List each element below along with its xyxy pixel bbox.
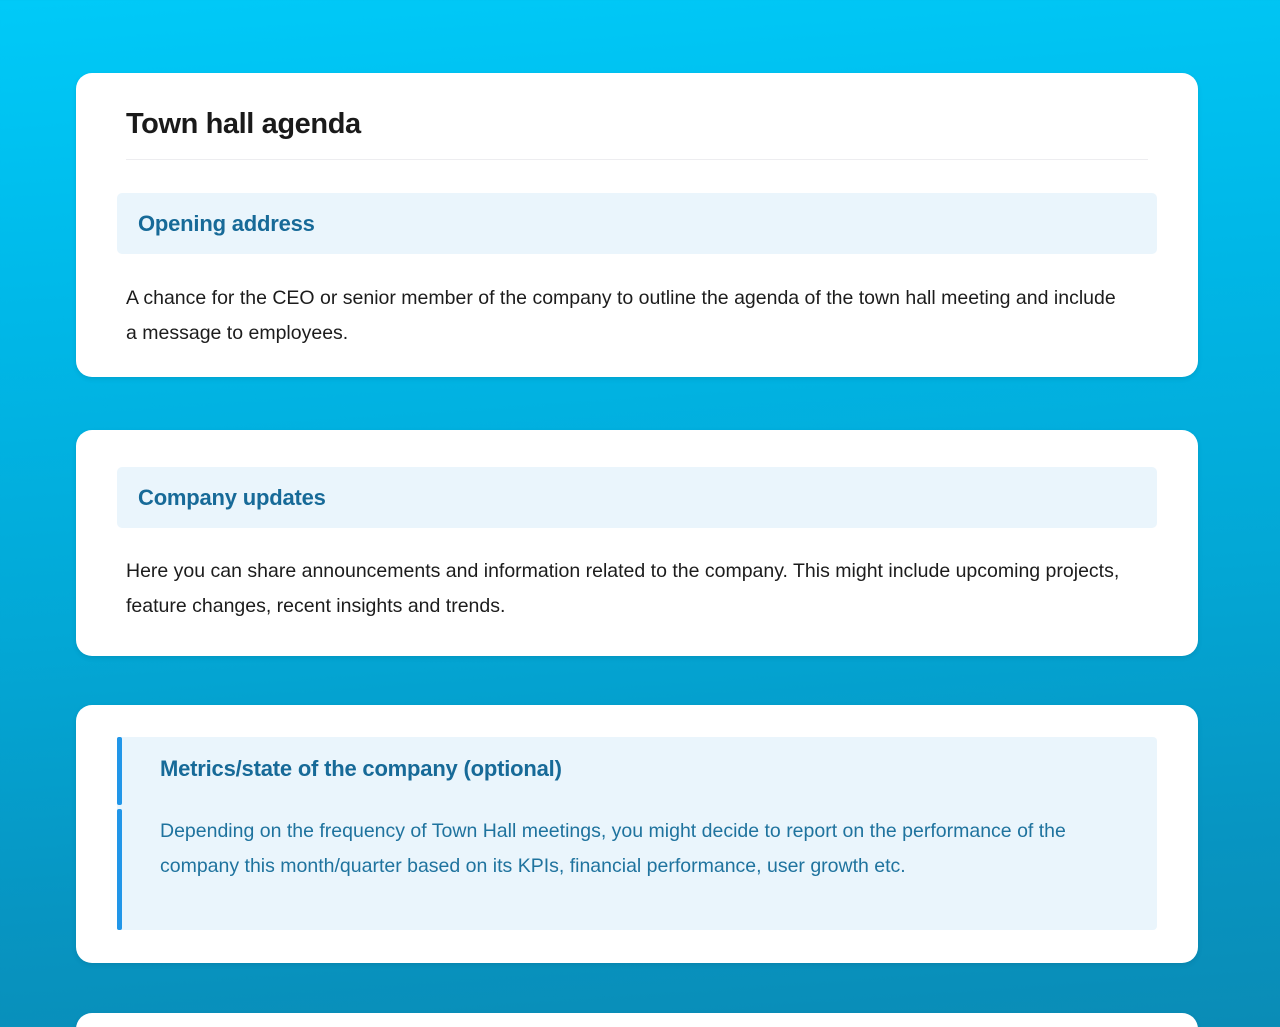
section-heading-label: Opening address — [117, 211, 315, 237]
agenda-card-next-partial[interactable] — [76, 1013, 1198, 1027]
section-body-text: Here you can share announcements and inf… — [126, 554, 1126, 624]
callout-block[interactable]: Metrics/state of the company (optional) … — [117, 737, 1157, 930]
page-root: Town hall agenda Opening address A chanc… — [0, 0, 1280, 1027]
section-heading-label: Company updates — [117, 485, 326, 511]
agenda-card-metrics[interactable]: Metrics/state of the company (optional) … — [76, 705, 1198, 963]
agenda-card-opening-address[interactable]: Town hall agenda Opening address A chanc… — [76, 73, 1198, 377]
accent-bar-segment-bottom — [117, 809, 122, 930]
section-heading-band[interactable]: Opening address — [117, 193, 1157, 254]
title-divider — [126, 159, 1148, 160]
accent-bar-segment-top — [117, 737, 122, 805]
page-title: Town hall agenda — [126, 108, 361, 141]
section-heading-label: Metrics/state of the company (optional) — [160, 756, 562, 782]
section-body-text: Depending on the frequency of Town Hall … — [160, 814, 1140, 884]
section-body-text: A chance for the CEO or senior member of… — [126, 281, 1126, 351]
section-heading-band[interactable]: Company updates — [117, 467, 1157, 528]
agenda-card-company-updates[interactable]: Company updates Here you can share annou… — [76, 430, 1198, 656]
